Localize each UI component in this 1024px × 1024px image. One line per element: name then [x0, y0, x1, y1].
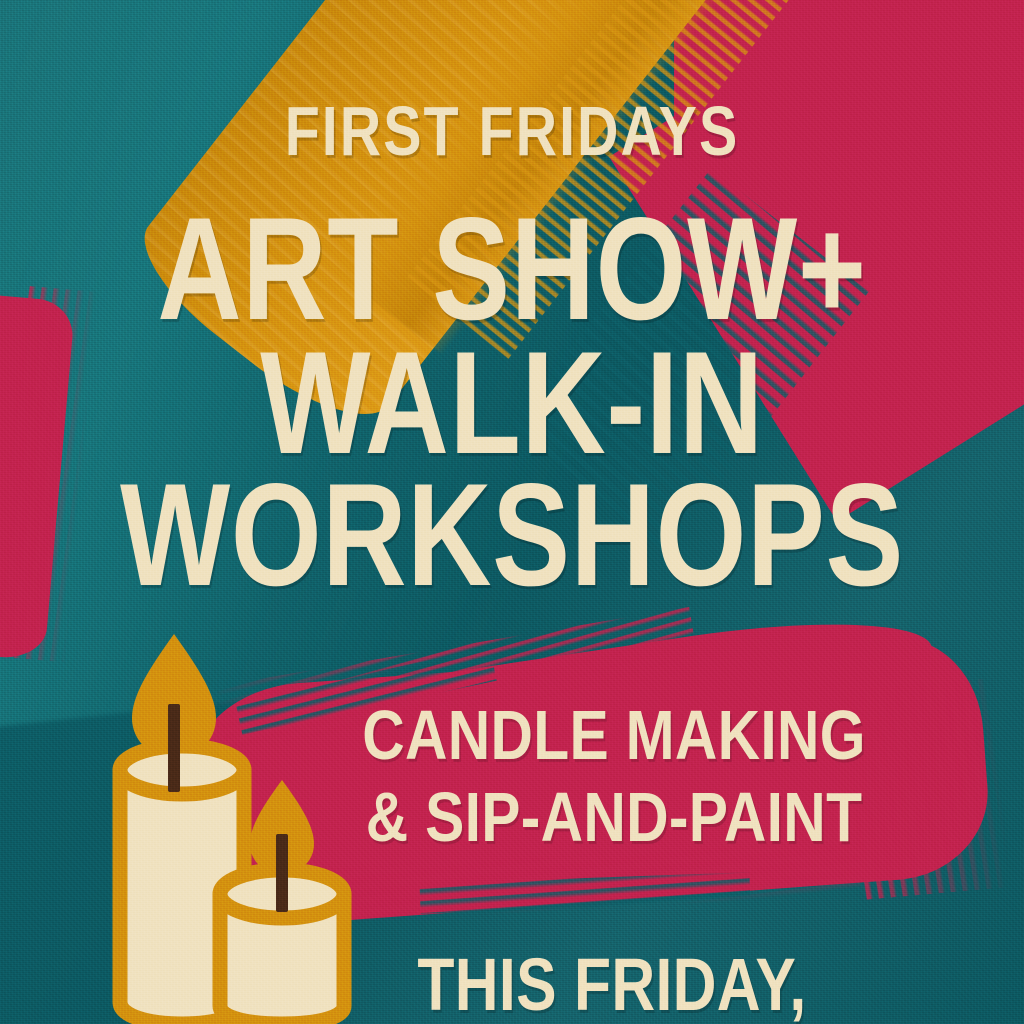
poster-canvas: FIRST FRIDAYS ART SHOW+ WALK-IN WORKSHOP… [0, 0, 1024, 1024]
crimson-left-brush [0, 291, 75, 661]
headline-line-3: WORKSHOPS [102, 462, 921, 608]
workshop-line-2: & SIP-AND-PAINT [320, 782, 908, 852]
workshop-line-1: CANDLE MAKING [320, 700, 908, 770]
kicker-text: FIRST FRIDAYS [92, 96, 932, 166]
short-candle-wick-upper [276, 852, 288, 912]
crimson-left-bristles [0, 285, 98, 662]
tall-candle-wick-upper [168, 730, 180, 792]
tall-candle-top [120, 746, 244, 794]
date-line: THIS FRIDAY, [325, 948, 899, 1022]
